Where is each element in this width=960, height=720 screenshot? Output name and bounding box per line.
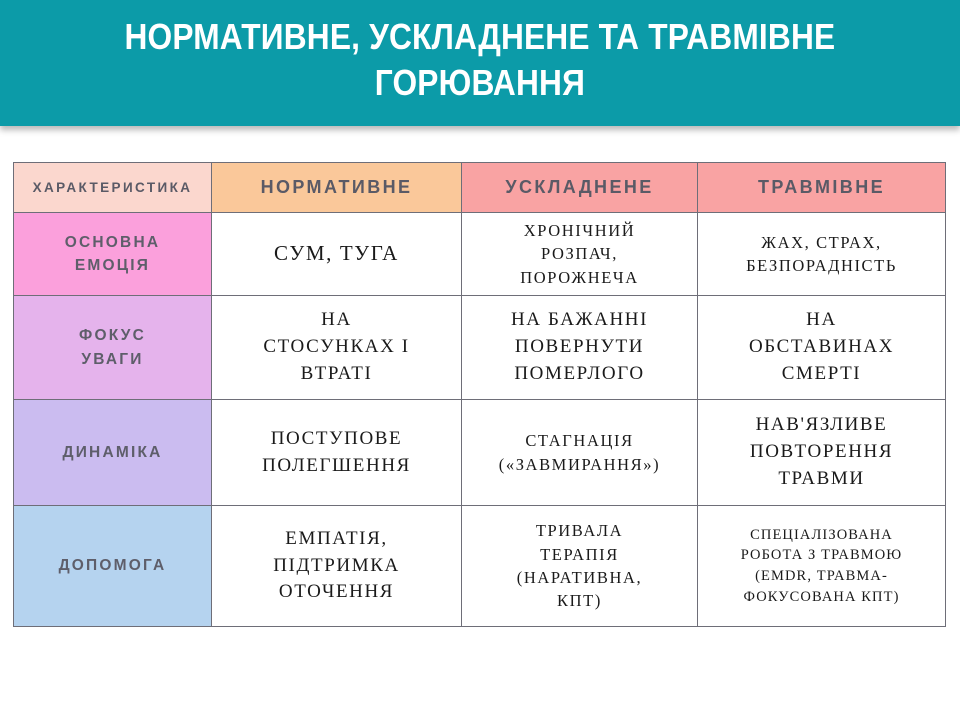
table-row: ДИНАМІКА ПОСТУПОВЕ ПОЛЕГШЕННЯ СТАГНАЦІЯ … xyxy=(14,400,946,506)
row-label-focus-of-attention: ФОКУС УВАГИ xyxy=(14,296,212,400)
slide: НОРМАТИВНЕ, УСКЛАДНЕНЕ ТА ТРАВМІВНЕ ГОРЮ… xyxy=(0,0,960,720)
grief-comparison-table-wrapper: ХАРАКТЕРИСТИКА НОРМАТИВНЕ УСКЛАДНЕНЕ ТРА… xyxy=(13,162,945,627)
row-label-dynamics: ДИНАМІКА xyxy=(14,400,212,506)
cell-help-normative: ЕМПАТІЯ, ПІДТРИМКА ОТОЧЕННЯ xyxy=(212,506,462,627)
cell-focus-complicated: НА БАЖАННІ ПОВЕРНУТИ ПОМЕРЛОГО xyxy=(462,296,698,400)
grief-comparison-table: ХАРАКТЕРИСТИКА НОРМАТИВНЕ УСКЛАДНЕНЕ ТРА… xyxy=(13,162,946,627)
column-header-complicated: УСКЛАДНЕНЕ xyxy=(462,163,698,213)
column-header-normative: НОРМАТИВНЕ xyxy=(212,163,462,213)
cell-focus-traumatic: НА ОБСТАВИНАХ СМЕРТІ xyxy=(698,296,946,400)
column-header-traumatic: ТРАВМІВНЕ xyxy=(698,163,946,213)
cell-dynamics-traumatic: НАВ'ЯЗЛИВЕ ПОВТОРЕННЯ ТРАВМИ xyxy=(698,400,946,506)
table-row: ДОПОМОГА ЕМПАТІЯ, ПІДТРИМКА ОТОЧЕННЯ ТРИ… xyxy=(14,506,946,627)
cell-help-complicated: ТРИВАЛА ТЕРАПІЯ (НАРАТИВНА, КПТ) xyxy=(462,506,698,627)
row-label-main-emotion: ОСНОВНА ЕМОЦІЯ xyxy=(14,213,212,296)
title-banner: НОРМАТИВНЕ, УСКЛАДНЕНЕ ТА ТРАВМІВНЕ ГОРЮ… xyxy=(0,0,960,126)
cell-emotion-traumatic: ЖАХ, СТРАХ, БЕЗПОРАДНІСТЬ xyxy=(698,213,946,296)
cell-help-traumatic: СПЕЦІАЛІЗОВАНА РОБОТА З ТРАВМОЮ (EMDR, Т… xyxy=(698,506,946,627)
cell-emotion-normative: СУМ, ТУГА xyxy=(212,213,462,296)
row-label-help: ДОПОМОГА xyxy=(14,506,212,627)
slide-title: НОРМАТИВНЕ, УСКЛАДНЕНЕ ТА ТРАВМІВНЕ ГОРЮ… xyxy=(125,14,836,106)
column-header-characteristic: ХАРАКТЕРИСТИКА xyxy=(14,163,212,213)
table-header-row: ХАРАКТЕРИСТИКА НОРМАТИВНЕ УСКЛАДНЕНЕ ТРА… xyxy=(14,163,946,213)
table-row: ОСНОВНА ЕМОЦІЯ СУМ, ТУГА ХРОНІЧНИЙ РОЗПА… xyxy=(14,213,946,296)
cell-dynamics-normative: ПОСТУПОВЕ ПОЛЕГШЕННЯ xyxy=(212,400,462,506)
table-row: ФОКУС УВАГИ НА СТОСУНКАХ І ВТРАТІ НА БАЖ… xyxy=(14,296,946,400)
cell-emotion-complicated: ХРОНІЧНИЙ РОЗПАЧ, ПОРОЖНЕЧА xyxy=(462,213,698,296)
cell-dynamics-complicated: СТАГНАЦІЯ («ЗАВМИРАННЯ») xyxy=(462,400,698,506)
cell-focus-normative: НА СТОСУНКАХ І ВТРАТІ xyxy=(212,296,462,400)
